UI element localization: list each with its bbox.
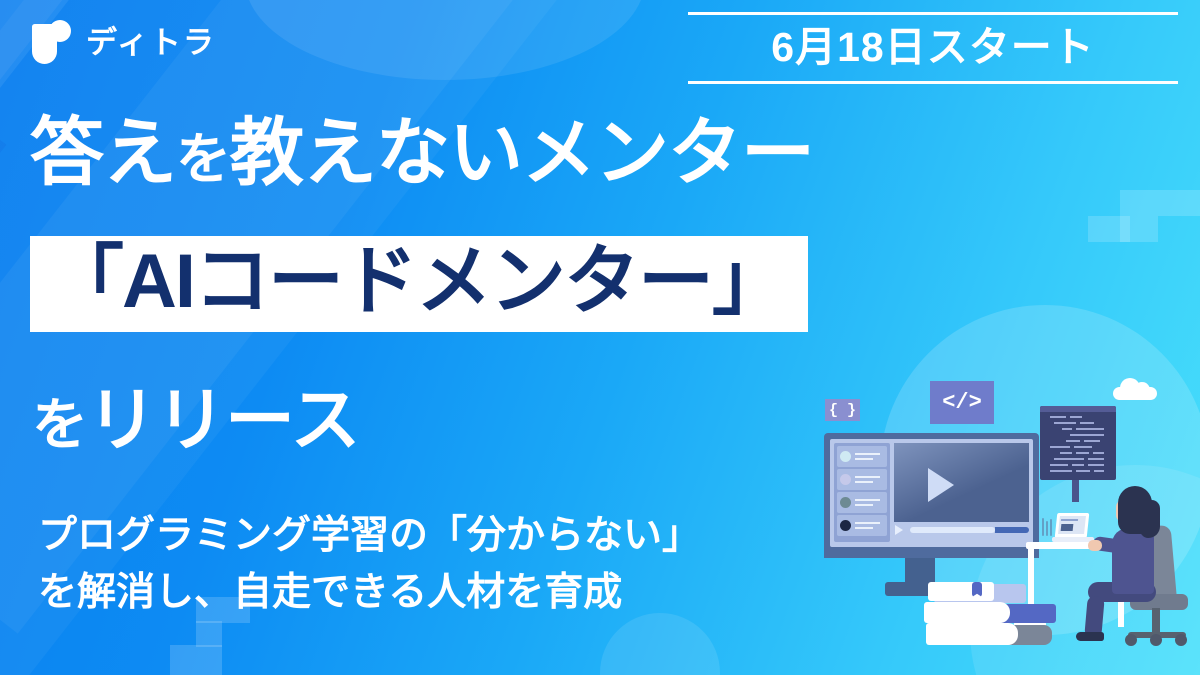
laptop-text-line — [1061, 519, 1078, 521]
playlist-text-line — [855, 453, 880, 455]
code-editor-titlebar — [1040, 406, 1116, 412]
headline-line3-particle: を — [32, 393, 87, 456]
playlist-text-line — [855, 504, 873, 506]
playlist-text-line — [855, 458, 873, 460]
playlist-text-line — [855, 476, 880, 478]
flag-icon — [32, 20, 72, 64]
subtitle-line-1: プログラミング学習の「分からない」 — [38, 508, 701, 565]
person-shoe — [1076, 632, 1104, 641]
headline-product-name: 「AIコードメンター」 — [48, 244, 786, 320]
headline-line1-a: 答 — [30, 111, 103, 194]
hero-illustration: { } </> — [800, 368, 1200, 675]
cloud-icon — [1113, 378, 1157, 400]
subtitle: プログラミング学習の「分からない」 を解消し、自走できる人材を育成 — [38, 508, 701, 621]
chair-wheel — [1175, 634, 1187, 646]
steam-icon — [1042, 518, 1052, 540]
headline-line1-b: え — [103, 111, 176, 194]
book-stack-item — [928, 582, 994, 601]
code-window-stand — [1072, 480, 1079, 502]
person-hair-back — [1140, 500, 1160, 538]
headline-line1-particle: を — [176, 128, 230, 190]
headline-line3-rest: リリース — [87, 381, 360, 459]
play-icon — [928, 468, 954, 502]
playlist-text-line — [855, 499, 880, 501]
book-stack-item — [924, 602, 1010, 623]
person-hand — [1088, 540, 1102, 551]
headline-line1-d: えないメンター — [303, 111, 814, 194]
progress-bar-track — [995, 527, 1029, 533]
playlist-thumb-icon — [840, 520, 851, 531]
playlist-text-line — [855, 481, 873, 483]
playlist-text-line — [855, 527, 873, 529]
promo-banner: ディトラ 6月18日スタート 答えを教えないメンター 「AIコードメンター」 を… — [0, 0, 1200, 675]
brand-logo[interactable]: ディトラ — [32, 20, 216, 64]
headline-highlight-box: 「AIコードメンター」 — [30, 236, 808, 332]
play-small-icon — [895, 525, 903, 535]
rule-bottom — [688, 81, 1178, 84]
chair-wheel — [1125, 634, 1137, 646]
headline-line1-c: 教 — [230, 111, 303, 194]
book-stack-item — [926, 623, 1018, 645]
subtitle-line-2: を解消し、自走できる人材を育成 — [38, 565, 701, 622]
playlist-thumb-icon — [840, 497, 851, 508]
playlist-thumb-icon — [840, 474, 851, 485]
playlist-text-line — [855, 522, 880, 524]
laptop-text-block — [1061, 524, 1074, 531]
start-date-banner: 6月18日スタート — [688, 12, 1178, 84]
decorative-circle — [600, 613, 720, 675]
headline-line-1: 答えを教えないメンター — [30, 116, 814, 190]
chair-wheel — [1150, 634, 1162, 646]
headline-line-3: をリリース — [32, 385, 360, 455]
code-editor-window — [1040, 406, 1116, 480]
start-date-text: 6月18日スタート — [688, 15, 1178, 81]
video-area — [894, 443, 1029, 522]
brand-logo-text: ディトラ — [86, 27, 216, 58]
progress-bar-fill — [910, 527, 995, 533]
curly-braces-badge: { } — [825, 399, 860, 421]
code-tag-badge: </> — [930, 381, 994, 424]
playlist-thumb-icon — [840, 451, 851, 462]
